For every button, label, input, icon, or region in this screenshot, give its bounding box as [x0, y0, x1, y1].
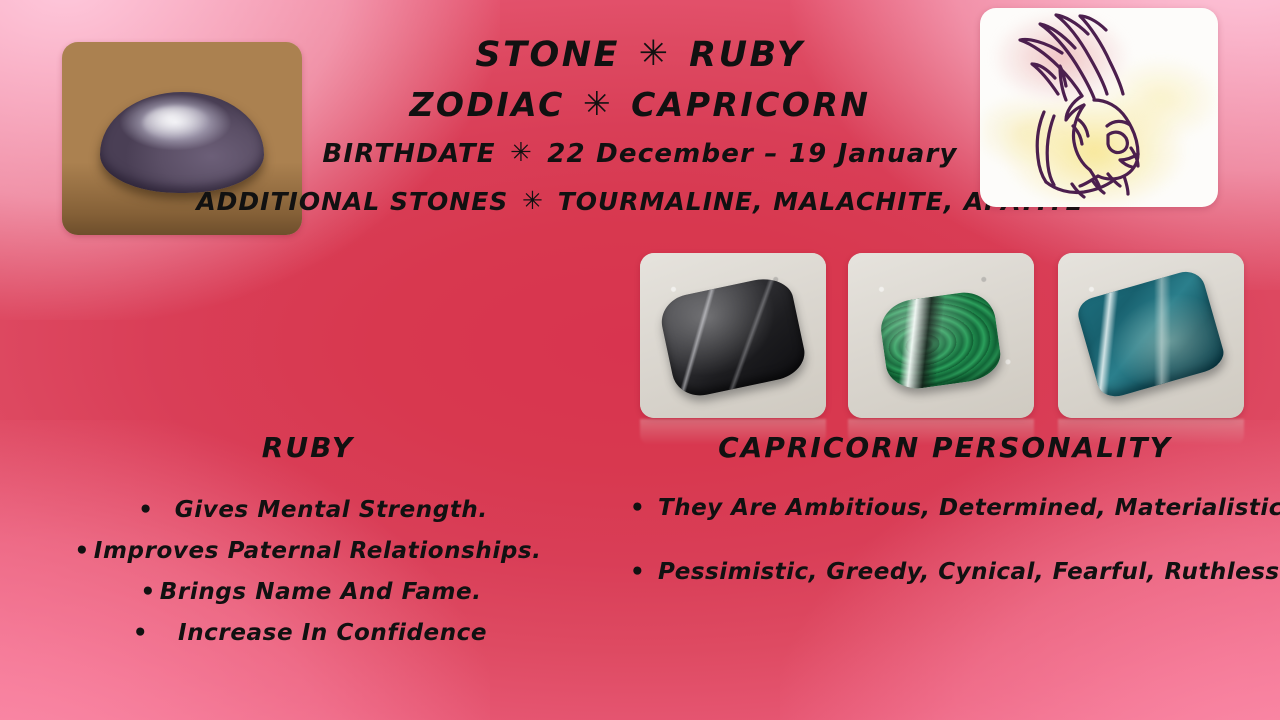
list-item-text: They Are Ambitious, Determined, Material… [658, 492, 1270, 524]
bullet-icon: • [630, 492, 645, 524]
separator-icon: ✳ [518, 177, 548, 225]
header-label-birthdate: BIRTHDATE [322, 139, 495, 169]
apatite-photo [1058, 253, 1244, 418]
separator-icon: ✳ [506, 129, 537, 177]
personality-column-title: CAPRICORN PERSONALITY [620, 428, 1270, 468]
header-value-stone: RUBY [689, 35, 804, 75]
bullet-icon: • [74, 538, 89, 564]
header-value-birthdate: 22 December – 19 January [547, 139, 957, 169]
header-value-zodiac: CAPRICORN [631, 85, 870, 124]
list-item: •Improves Paternal Relationships. [28, 531, 588, 572]
bullet-icon: • [138, 497, 153, 523]
tourmaline-photo [640, 253, 826, 418]
slide-canvas: STONE ✳ RUBY ZODIAC ✳ CAPRICORN BIRTHDAT… [0, 0, 1280, 720]
separator-icon: ✳ [635, 29, 675, 79]
list-item: •Brings Name And Fame. [28, 572, 588, 613]
goat-head-icon [980, 8, 1218, 207]
list-item-text: Pessimistic, Greedy, Cynical, Fearful, R… [658, 556, 1270, 588]
list-item: • Increase In Confidence [28, 613, 588, 654]
list-item-text: Brings Name And Fame. [160, 579, 482, 605]
ruby-column-title: RUBY [28, 428, 588, 468]
ruby-benefits-column: RUBY • Gives Mental Strength. •Improves … [28, 428, 588, 654]
capricorn-zodiac-illustration [980, 8, 1218, 207]
header-label-additional-stones: ADDITIONAL STONES [196, 187, 508, 216]
bullet-icon: • [133, 620, 148, 646]
list-item-text: Increase In Confidence [178, 620, 487, 646]
list-item: • Gives Mental Strength. [28, 490, 588, 531]
bullet-icon: • [140, 579, 155, 605]
list-item-text: Gives Mental Strength. [175, 497, 488, 523]
separator-icon: ✳ [579, 79, 617, 129]
header-label-stone: STONE [475, 35, 620, 75]
bullet-icon: • [630, 556, 645, 588]
list-item: • Pessimistic, Greedy, Cynical, Fearful,… [620, 556, 1270, 588]
list-item: • They Are Ambitious, Determined, Materi… [620, 492, 1270, 524]
malachite-photo [848, 253, 1034, 418]
list-item-text: Improves Paternal Relationships. [94, 538, 542, 564]
capricorn-personality-column: CAPRICORN PERSONALITY • They Are Ambitio… [620, 428, 1270, 620]
header-label-zodiac: ZODIAC [410, 85, 565, 124]
